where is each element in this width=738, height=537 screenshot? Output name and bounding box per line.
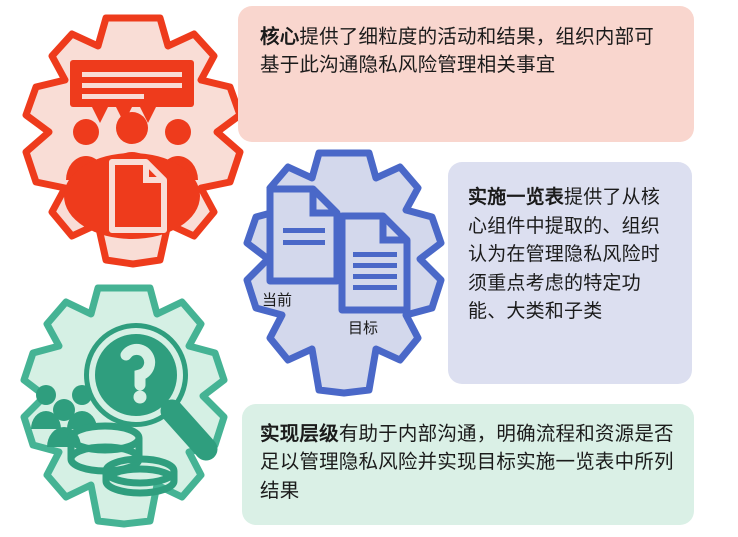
document-icon: [64, 153, 200, 239]
callout-core: 核心提供了细粒度的活动和结果，组织内部可基于此沟通隐私风险管理相关事宜: [238, 6, 694, 142]
gear-core: [8, 12, 258, 270]
callout-core-lead: 核心: [260, 26, 299, 48]
callout-tier: 实现层级有助于内部沟通，明确流程和资源是否足以管理隐私风险并实现目标实施一览表中…: [242, 404, 694, 525]
callout-profile: 实施一览表提供了从核心组件中提取的、组织认为在管理隐私风险时须重点考虑的特定功能…: [448, 162, 692, 384]
callout-core-text: 核心提供了细粒度的活动和结果，组织内部可基于此沟通隐私风险管理相关事宜: [260, 23, 672, 80]
callout-tier-text: 实现层级有助于内部沟通，明确流程和资源是否足以管理隐私风险并实现目标实施一览表中…: [260, 420, 674, 505]
gear-profile: [233, 148, 455, 398]
callout-tier-lead: 实现层级: [260, 423, 339, 445]
gear-label-target: 目标: [348, 317, 378, 338]
callout-profile-lead: 实施一览表: [468, 187, 564, 208]
document-current-icon: [270, 189, 337, 281]
gear-label-current: 当前: [262, 289, 292, 310]
gear-tier: [8, 283, 240, 528]
callout-core-body: 提供了细粒度的活动和结果，组织内部可基于此沟通隐私风险管理相关事宜: [260, 26, 654, 76]
callout-profile-text: 实施一览表提供了从核心组件中提取的、组织认为在管理隐私风险时须重点考虑的特定功能…: [468, 184, 676, 327]
document-target-icon: [342, 216, 407, 310]
infographic-canvas: 当前 目标 核心提供了细粒度的活动和结果，组织内部可基于此沟通隐私风险管理相关事…: [0, 0, 738, 537]
